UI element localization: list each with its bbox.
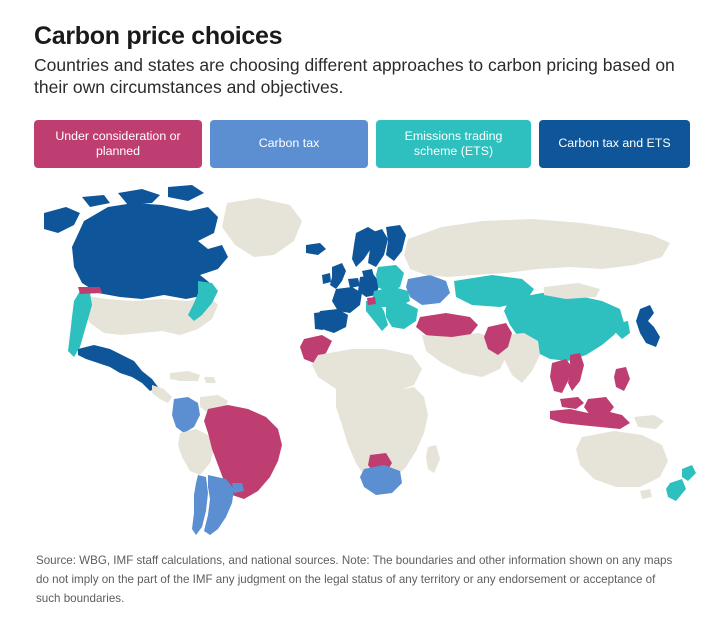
source-note: Source: WBG, IMF staff calculations, and…: [36, 552, 676, 608]
legend-label-carbon-tax: Carbon tax: [259, 136, 320, 151]
region-switzerland: [367, 297, 376, 305]
legend-item-tax-and-ets[interactable]: Carbon tax and ETS: [539, 120, 690, 168]
world-map: [22, 183, 702, 538]
page-title: Carbon price choices: [34, 22, 694, 50]
region-us-northwest-planned: [78, 287, 102, 294]
legend-item-carbon-tax[interactable]: Carbon tax: [210, 120, 368, 168]
region-portugal: [314, 312, 323, 330]
legend-label-planned: Under consideration or planned: [40, 129, 196, 159]
page-subtitle: Countries and states are choosing differ…: [34, 54, 684, 98]
legend: Under consideration or planned Carbon ta…: [34, 120, 690, 168]
legend-item-ets[interactable]: Emissions trading scheme (ETS): [376, 120, 531, 168]
header: Carbon price choices Countries and state…: [34, 22, 694, 98]
legend-item-planned[interactable]: Under consideration or planned: [34, 120, 202, 168]
legend-label-tax-and-ets: Carbon tax and ETS: [558, 136, 670, 151]
legend-label-ets: Emissions trading scheme (ETS): [382, 129, 525, 159]
infographic-page: Carbon price choices Countries and state…: [0, 0, 720, 638]
